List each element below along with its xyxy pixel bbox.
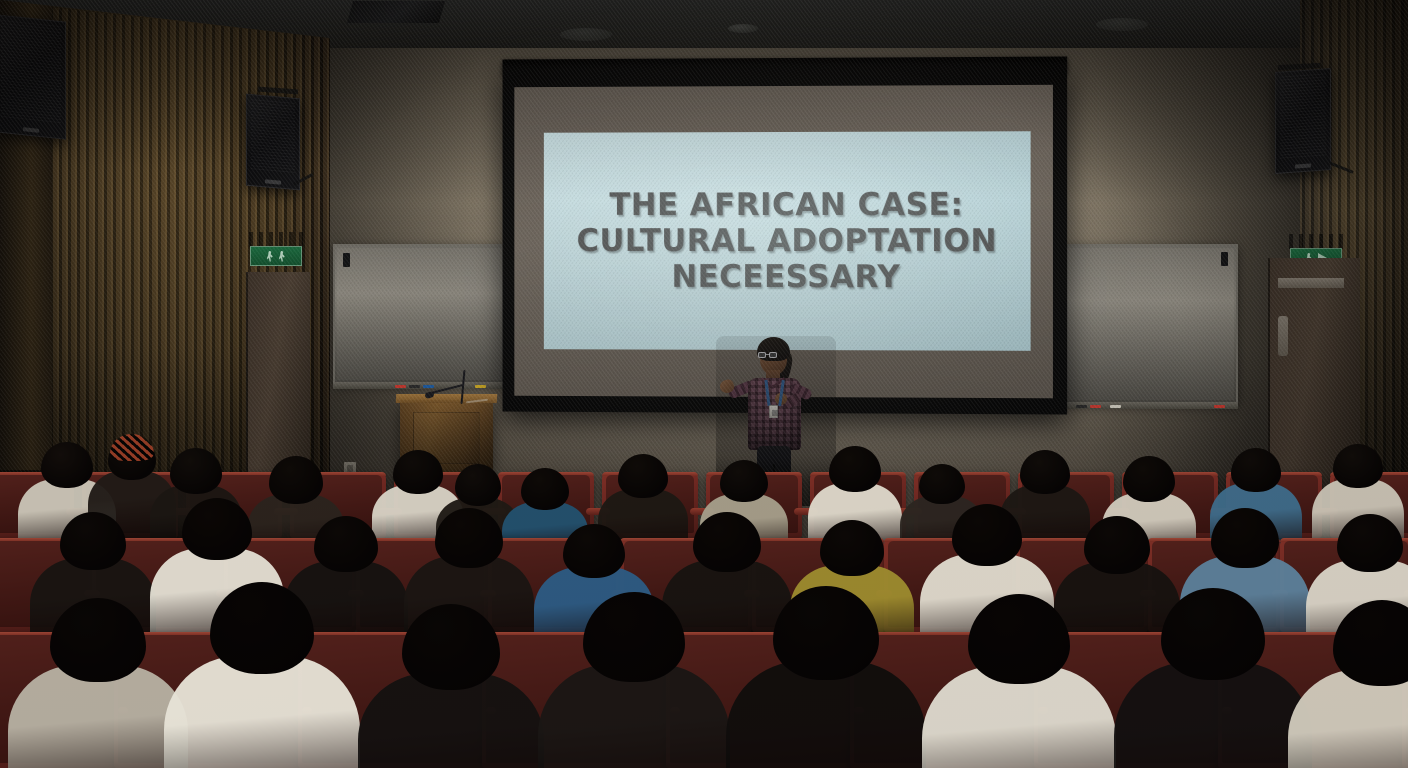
door-push-bar[interactable] [1278, 278, 1344, 288]
audience-head [1333, 444, 1383, 488]
running-man-icon [279, 251, 286, 262]
audience-head [170, 448, 222, 494]
audience-head [773, 586, 879, 680]
glasses-icon [758, 352, 779, 358]
audience-head [1123, 456, 1175, 502]
audience-head [521, 468, 569, 510]
audience-head [41, 442, 93, 488]
audience-member [538, 592, 730, 768]
audience-head [269, 456, 323, 504]
audience-head [952, 504, 1022, 566]
speaker-grille-icon [1, 20, 61, 124]
audience-head [50, 598, 146, 682]
audience-member [1114, 588, 1312, 768]
emergency-light-housing [1289, 234, 1343, 249]
audience-head [182, 498, 252, 560]
slide-title-line-1: THE AFRICAN CASE: [596, 186, 978, 223]
audience-member [358, 604, 544, 768]
speaker-left-far [0, 14, 66, 139]
speaker-grille-icon [251, 99, 295, 175]
id-badge [769, 405, 778, 418]
audience-member [1288, 600, 1408, 768]
exit-sign-panel [250, 246, 302, 266]
slide-title-line-3: NECEESSARY [657, 259, 914, 296]
marker-blue-icon [423, 385, 434, 388]
audience-member [8, 598, 188, 768]
audience-head [314, 516, 378, 572]
audience-head [1333, 600, 1408, 686]
audience-head [919, 464, 965, 504]
whiteboard-right [1062, 244, 1238, 404]
audience-head [455, 464, 501, 506]
speaker-right [1275, 68, 1331, 174]
marker-yellow-icon [475, 385, 486, 388]
marker-eraser-icon [1110, 405, 1121, 408]
audience-member [726, 586, 926, 768]
whiteboard-shading [1064, 246, 1236, 402]
audience-seating [0, 420, 1408, 768]
audience-head [720, 460, 768, 502]
door-handle-icon[interactable] [1278, 316, 1288, 356]
audience-head [563, 524, 625, 578]
audience-head [210, 582, 314, 674]
audience-member [922, 594, 1116, 768]
exit-sign-left [250, 232, 302, 266]
slide-title-line-2: CULTURAL ADOPTATION [563, 223, 1012, 260]
audience-head [435, 508, 503, 568]
audience-head [820, 520, 884, 576]
audience-head [1337, 514, 1403, 572]
audience-head [968, 594, 1070, 684]
projected-slide: THE AFRICAN CASE: CULTURAL ADOPTATION NE… [544, 131, 1031, 351]
audience-head [1161, 588, 1265, 680]
audience-head [618, 454, 668, 498]
whiteboard-marker-tray [333, 382, 508, 389]
audience-head [1084, 516, 1150, 574]
speaker-left-near [246, 94, 300, 191]
speaker-logo-badge [1295, 163, 1311, 168]
speaker-logo-badge [23, 127, 39, 133]
running-man-icon [267, 251, 274, 262]
audience-head [1211, 508, 1279, 568]
whiteboard-shading [335, 246, 506, 382]
marker-black-icon [409, 385, 420, 388]
whiteboard-marker-tray [1062, 402, 1238, 409]
whiteboard-left [333, 244, 508, 384]
lecture-hall-scene: THE AFRICAN CASE: CULTURAL ADOPTATION NE… [0, 0, 1408, 768]
marker-red-icon [1090, 405, 1101, 408]
audience-head [1020, 450, 1070, 494]
speaker-grille-icon [1280, 73, 1326, 158]
audience-member [164, 582, 360, 768]
marker-red-icon [1214, 405, 1225, 408]
audience-head [829, 446, 881, 492]
emergency-light-housing [249, 232, 303, 247]
marker-black-icon [1076, 405, 1087, 408]
speaker-logo-badge [265, 179, 281, 184]
audience-head [1231, 448, 1281, 492]
audience-head [693, 512, 761, 572]
audience-head [402, 604, 500, 690]
audience-head [583, 592, 685, 682]
marker-red-icon [395, 385, 406, 388]
audience-headwrap [110, 434, 154, 461]
audience-head [60, 512, 126, 570]
